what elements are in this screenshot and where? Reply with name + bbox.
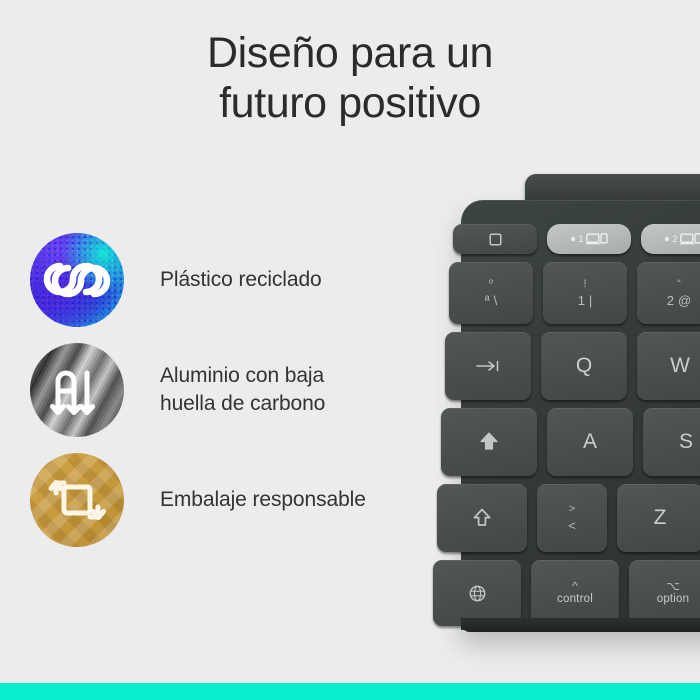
one-key-legend: ! 1 | [578, 277, 593, 309]
keyboard-body: 1 2 [461, 200, 700, 630]
angle-bracket-legend: > < [568, 502, 576, 534]
easy-switch-2-key[interactable]: 2 [641, 224, 700, 254]
ordinal-backslash-key[interactable]: º ª \ [449, 262, 533, 324]
feminine-ordinal-glyph: ª [485, 292, 490, 310]
two-key[interactable]: “ 2 @ [637, 262, 700, 324]
easy-switch-1-key[interactable]: 1 [547, 224, 631, 254]
digit-one-glyph: 1 [578, 292, 585, 310]
accent-bottom-band [0, 683, 700, 700]
recycled-plastic-loop-icon [30, 233, 124, 327]
at-glyph: @ [678, 292, 691, 310]
control-key-legend: ^ control [557, 580, 593, 606]
a-key-legend: A [583, 430, 597, 454]
led-dot-icon [570, 236, 576, 242]
shift-arrow-icon [472, 507, 492, 529]
feature-label-aluminium: Aluminio con baja huella de carbono [160, 338, 325, 442]
control-key[interactable]: ^ control [531, 560, 619, 626]
one-key[interactable]: ! 1 | [543, 262, 627, 324]
caps-lock-arrow-icon [479, 431, 499, 453]
pipe-glyph: | [589, 292, 592, 310]
tab-key[interactable] [445, 332, 531, 400]
page-title: Diseño para un futuro positivo [0, 28, 700, 129]
masculine-ordinal-glyph: º [489, 277, 493, 292]
feature-label-aluminium-line-1: Aluminio con baja [160, 364, 324, 387]
globe-key[interactable] [433, 560, 521, 626]
keyboard-bottom-edge [461, 618, 700, 632]
led-dot-icon [664, 236, 670, 242]
feature-item-aluminium: Aluminio con baja huella de carbono [30, 338, 450, 448]
caret-symbol: ^ [572, 580, 578, 592]
option-key-legend: ⌥ option [657, 580, 690, 606]
feature-list: Plástico reciclado [30, 228, 450, 558]
feature-item-packaging: Embalaje responsable [30, 448, 450, 558]
two-key-legend: “ 2 @ [667, 277, 691, 309]
q-key[interactable]: Q [541, 332, 627, 400]
page-title-line-1: Diseño para un [207, 29, 493, 77]
device-screen-icon [680, 233, 700, 245]
feature-label-packaging: Embalaje responsable [160, 448, 366, 552]
responsible-packaging-icon [30, 453, 124, 547]
greater-than-glyph: > [569, 502, 575, 517]
w-key[interactable]: W [637, 332, 700, 400]
tab-arrow-icon [475, 360, 501, 372]
shift-key[interactable] [437, 484, 527, 552]
ordinal-backslash-legend: º ª \ [485, 277, 497, 309]
easy-switch-2-label: 2 [672, 234, 677, 244]
feature-label-recycled-plastic: Plástico reciclado [160, 228, 322, 332]
digit-two-glyph: 2 [667, 292, 674, 310]
less-than-glyph: < [568, 517, 576, 535]
option-key[interactable]: ⌥ option [629, 560, 700, 626]
globe-icon [468, 584, 487, 603]
q-key-legend: Q [576, 354, 592, 378]
w-key-legend: W [670, 354, 690, 378]
quote-glyph: “ [677, 277, 681, 292]
s-key[interactable]: S [643, 408, 700, 476]
option-key-text: option [657, 594, 690, 606]
z-key-legend: Z [654, 506, 667, 530]
easy-switch-1-label: 1 [578, 234, 583, 244]
a-key[interactable]: A [547, 408, 633, 476]
wireless-keyboard: 1 2 [443, 168, 700, 643]
backslash-glyph: \ [494, 292, 498, 310]
product-feature-slide: Diseño para un futuro positivo Plástico … [0, 0, 700, 700]
page-title-line-2: futuro positivo [0, 78, 700, 128]
s-key-legend: S [679, 430, 693, 454]
control-key-text: control [557, 594, 593, 606]
caps-lock-key[interactable] [441, 408, 537, 476]
feature-item-recycled-plastic: Plástico reciclado [30, 228, 450, 338]
square-outline-icon [489, 233, 502, 246]
feature-label-aluminium-line-2: huella de carbono [160, 392, 325, 415]
exclamation-glyph: ! [583, 277, 586, 292]
escape-key[interactable] [453, 224, 537, 254]
option-symbol: ⌥ [666, 580, 680, 592]
z-key[interactable]: Z [617, 484, 700, 552]
aluminium-low-carbon-icon [30, 343, 124, 437]
angle-bracket-key[interactable]: > < [537, 484, 607, 552]
device-screen-icon [586, 233, 608, 245]
